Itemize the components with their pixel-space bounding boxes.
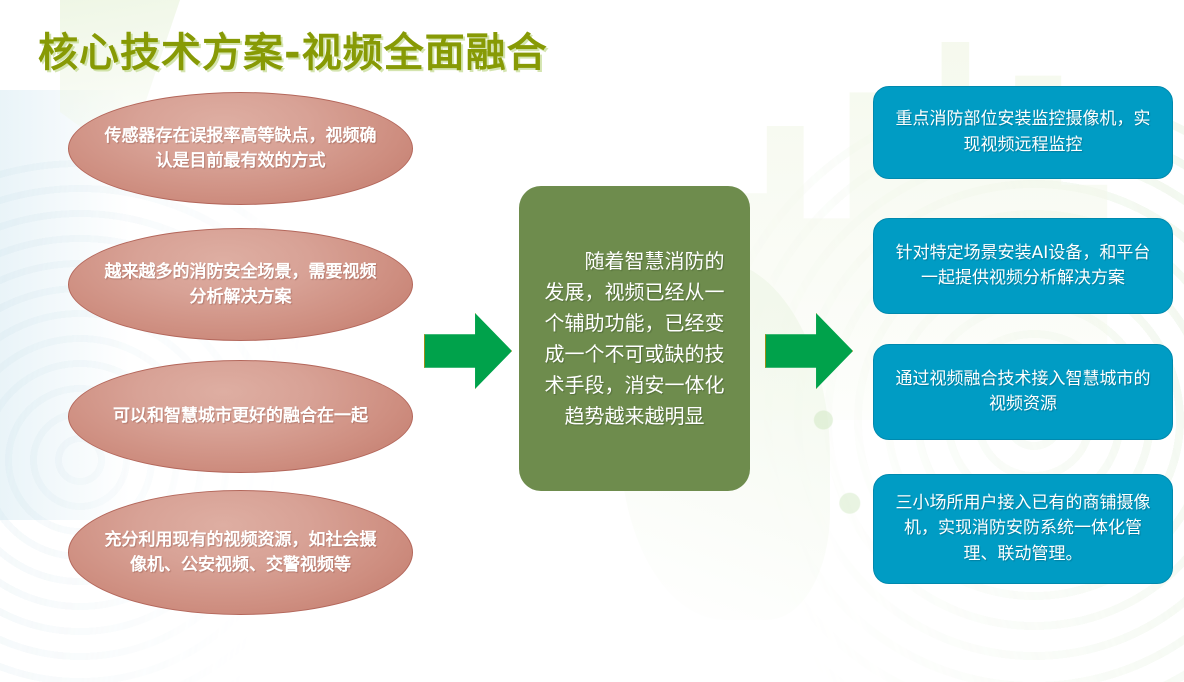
left-ellipse-item-2[interactable]: 越来越多的消防安全场景，需要视频分析解决方案 bbox=[68, 228, 413, 341]
left-ellipse-item-3[interactable]: 可以和智慧城市更好的融合在一起 bbox=[68, 360, 413, 473]
right-box-item-2[interactable]: 针对特定场景安装AI设备，和平台一起提供视频分析解决方案 bbox=[873, 218, 1173, 314]
right-box-item-4[interactable]: 三小场所用户接入已有的商铺摄像机，实现消防安防系统一体化管理、联动管理。 bbox=[873, 474, 1173, 584]
slide-canvas: 核心技术方案-视频全面融合 传感器存在误报率高等缺点，视频确认是目前最有效的方式… bbox=[0, 0, 1184, 682]
page-title: 核心技术方案-视频全面融合 bbox=[38, 20, 548, 78]
left-ellipse-column: 传感器存在误报率高等缺点，视频确认是目前最有效的方式 越来越多的消防安全场景，需… bbox=[68, 92, 413, 622]
left-ellipse-item-4[interactable]: 充分利用现有的视频资源，如社会摄像机、公安视频、交警视频等 bbox=[68, 490, 413, 615]
right-box-item-1[interactable]: 重点消防部位安装监控摄像机，实现视频远程监控 bbox=[873, 86, 1173, 179]
left-ellipse-item-1[interactable]: 传感器存在误报率高等缺点，视频确认是目前最有效的方式 bbox=[68, 92, 413, 205]
right-box-item-3[interactable]: 通过视频融合技术接入智慧城市的视频资源 bbox=[873, 344, 1173, 440]
arrow-right-icon-left bbox=[424, 313, 512, 389]
arrow-right-icon-right bbox=[765, 313, 853, 389]
center-summary-box[interactable]: 随着智慧消防的发展，视频已经从一个辅助功能，已经变成一个不可或缺的技术手段，消安… bbox=[519, 186, 750, 491]
center-summary-text: 随着智慧消防的发展，视频已经从一个辅助功能，已经变成一个不可或缺的技术手段，消安… bbox=[537, 246, 732, 432]
right-box-column: 重点消防部位安装监控摄像机，实现视频远程监控 针对特定场景安装AI设备，和平台一… bbox=[873, 86, 1173, 616]
